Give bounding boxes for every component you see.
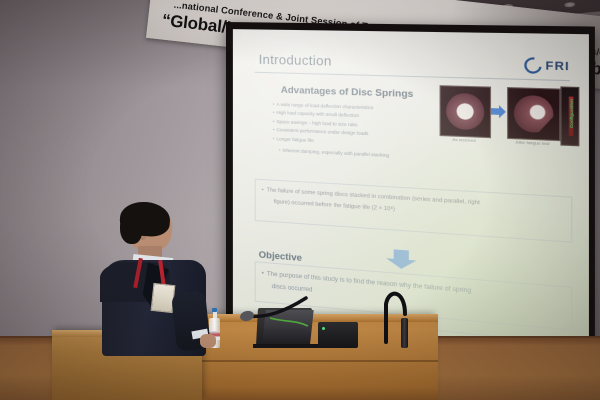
podium-microphone [240, 292, 310, 332]
disc-spring-figure: As received After fatigue test Configura… [437, 81, 577, 195]
desk-panel-groove [188, 360, 438, 362]
fri-logo: FRI [525, 57, 570, 74]
fri-circle-icon [521, 54, 545, 77]
slide-title-rule [255, 72, 570, 81]
power-led-icon [322, 327, 325, 330]
advantages-heading: Advantages of Disc Springs [281, 85, 414, 101]
disc-ring-broken-icon [514, 95, 554, 133]
disc-photo-after-fatigue [507, 87, 560, 141]
conference-photo-scene: ...national Conference & Joint Session o… [0, 0, 600, 400]
ceiling-downlight [564, 2, 575, 8]
projector-control-box [318, 322, 358, 348]
speaker-hair-back [120, 214, 142, 244]
fri-logo-text: FRI [546, 59, 570, 73]
bottle-neck [213, 311, 217, 318]
gooseneck-microphone [383, 282, 427, 348]
figure-caption-right: After fatigue test [505, 139, 561, 147]
configuration-strip: Configuration [560, 86, 579, 146]
disc-photo-as-received [440, 85, 492, 138]
slide-title: Introduction [259, 52, 332, 69]
blue-down-arrow-icon [385, 249, 417, 270]
figure-caption-left: As received [437, 136, 491, 144]
speaker [92, 204, 212, 354]
bottle-cap [212, 308, 217, 312]
speaker-hand [200, 334, 216, 348]
disc-ring-icon [446, 93, 484, 131]
mic-base-post [401, 318, 408, 348]
mic-boom-icon [240, 292, 310, 332]
blue-arrow-icon [491, 104, 507, 120]
configuration-label: Configuration [568, 84, 574, 128]
laptop-base [253, 344, 319, 348]
